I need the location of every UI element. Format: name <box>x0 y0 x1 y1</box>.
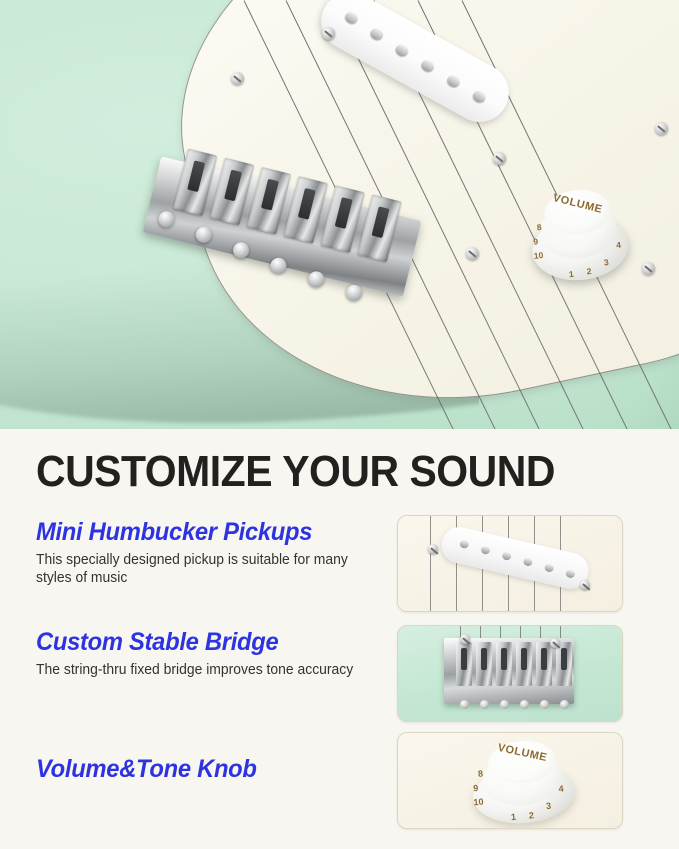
bridge-saddle <box>556 642 572 686</box>
pickguard-screw <box>655 122 668 135</box>
bridge-saddle <box>536 642 552 686</box>
bridge-saddle <box>516 642 532 686</box>
pickup-pole-piece <box>565 569 576 579</box>
knob-numeral-1: 1 <box>568 269 574 279</box>
product-feature-image: VOLUME 10 9 8 1 2 3 4 CUSTOMIZE YOUR SOU… <box>0 0 679 849</box>
thumbnail-string <box>430 516 431 612</box>
knob-numeral-3: 3 <box>546 801 552 811</box>
bridge-thumbnail <box>397 625 623 722</box>
pickguard-screw <box>466 247 479 260</box>
pickup-pole-piece <box>368 26 385 42</box>
volume-knob[interactable]: VOLUME 10 9 8 1 2 3 4 <box>522 181 636 291</box>
knob-numeral-3: 3 <box>603 257 609 267</box>
pickguard-screw <box>428 544 438 554</box>
pickup-pole-piece <box>419 58 436 74</box>
pickguard-screw <box>493 152 506 165</box>
thumbnail-pickup <box>438 524 592 593</box>
knob-numeral-1: 1 <box>510 812 516 822</box>
bridge-mounting-screw <box>460 634 470 644</box>
bridge-string-ferrule <box>460 700 469 709</box>
pickguard-screw <box>580 580 590 590</box>
bridge-string-ferrule <box>500 700 509 709</box>
feature-item-bridge: Custom Stable Bridge The string-thru fix… <box>36 627 386 679</box>
knob-numeral-2: 2 <box>528 810 534 820</box>
pickup-pole-piece <box>394 42 411 58</box>
pickup-pole-piece <box>445 73 462 89</box>
pickup-pole-piece <box>480 545 491 555</box>
knob-numeral-8: 8 <box>536 222 542 232</box>
bridge-mounting-screw <box>550 638 560 648</box>
pickup-pole-piece <box>501 551 512 561</box>
knob-thumbnail: VOLUME 10 9 8 1 2 3 4 <box>397 732 623 829</box>
feature-description: The string-thru fixed bridge improves to… <box>36 661 372 679</box>
bridge-saddle <box>456 642 472 686</box>
bridge-string-ferrule <box>560 700 569 709</box>
feature-title: Custom Stable Bridge <box>36 627 369 657</box>
pickguard-screw <box>231 72 244 85</box>
pickup-thumbnail <box>397 515 623 612</box>
hero-guitar-photo: VOLUME 10 9 8 1 2 3 4 <box>0 0 679 429</box>
feature-item-pickups: Mini Humbucker Pickups This specially de… <box>36 517 386 587</box>
pickup-pole-piece <box>343 10 360 26</box>
bridge-saddle <box>476 642 492 686</box>
pickup-pole-piece <box>523 557 534 567</box>
feature-description: This specially designed pickup is suitab… <box>36 551 372 587</box>
knob-numeral-8: 8 <box>478 768 484 778</box>
knob-numeral-4: 4 <box>616 240 622 250</box>
knob-numeral-2: 2 <box>586 266 592 276</box>
feature-title: Mini Humbucker Pickups <box>36 517 369 547</box>
knob-numeral-9: 9 <box>533 236 539 246</box>
pickup-pole-piece <box>471 89 488 105</box>
feature-item-knob: Volume&Tone Knob <box>36 754 386 784</box>
features-panel: CUSTOMIZE YOUR SOUND Mini Humbucker Pick… <box>0 429 679 849</box>
page-title: CUSTOMIZE YOUR SOUND <box>36 449 555 495</box>
volume-knob[interactable]: VOLUME 10 9 8 1 2 3 4 <box>464 734 581 829</box>
knob-numeral-9: 9 <box>473 783 479 793</box>
pickup-pole-piece <box>459 539 470 549</box>
knob-numeral-4: 4 <box>558 783 564 793</box>
bridge-string-ferrule <box>520 700 529 709</box>
bridge-string-ferrule <box>480 700 489 709</box>
knob-numeral-10: 10 <box>533 250 543 261</box>
bridge-string-ferrule <box>540 700 549 709</box>
pickguard-screw <box>322 27 335 40</box>
pickguard-screw <box>642 262 655 275</box>
bridge-saddle <box>496 642 512 686</box>
pickup-pole-piece <box>544 563 555 573</box>
feature-title: Volume&Tone Knob <box>36 754 369 784</box>
knob-numeral-10: 10 <box>473 797 484 808</box>
